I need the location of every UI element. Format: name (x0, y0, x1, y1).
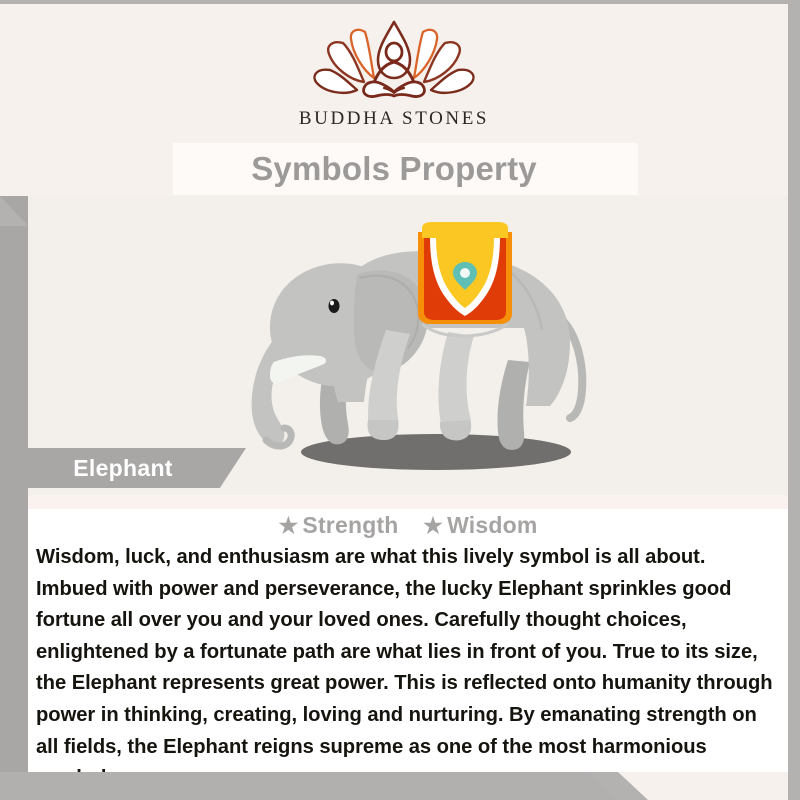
attribute-wisdom-label: Wisdom (447, 512, 537, 538)
attribute-wisdom: ★Wisdom (423, 512, 537, 539)
description-panel-tint (28, 495, 788, 509)
brand-logo: BUDDHA STONES (0, 18, 788, 138)
description-paragraph: Wisdom, luck, and enthusiasm are what th… (36, 542, 778, 795)
star-icon: ★ (423, 513, 443, 538)
frame-right-border (788, 0, 800, 800)
elephant-illustration (208, 210, 638, 485)
lotus-meditation-figure-icon (310, 18, 478, 106)
infographic-poster: BUDDHA STONES Symbols Property (0, 0, 800, 800)
star-icon: ★ (278, 513, 298, 538)
page-title: Symbols Property (0, 143, 788, 195)
saddle-gem-center (460, 268, 470, 278)
brand-wordmark: BUDDHA STONES (299, 108, 489, 130)
panel-corner-tab (0, 196, 28, 226)
attribute-list: ★Strength ★Wisdom (28, 512, 788, 539)
symbol-name-label: Elephant (28, 448, 218, 488)
frame-left-border (0, 226, 28, 772)
elephant-eye (329, 299, 340, 313)
attribute-strength: ★Strength (278, 512, 398, 539)
attribute-strength-label: Strength (302, 512, 398, 538)
